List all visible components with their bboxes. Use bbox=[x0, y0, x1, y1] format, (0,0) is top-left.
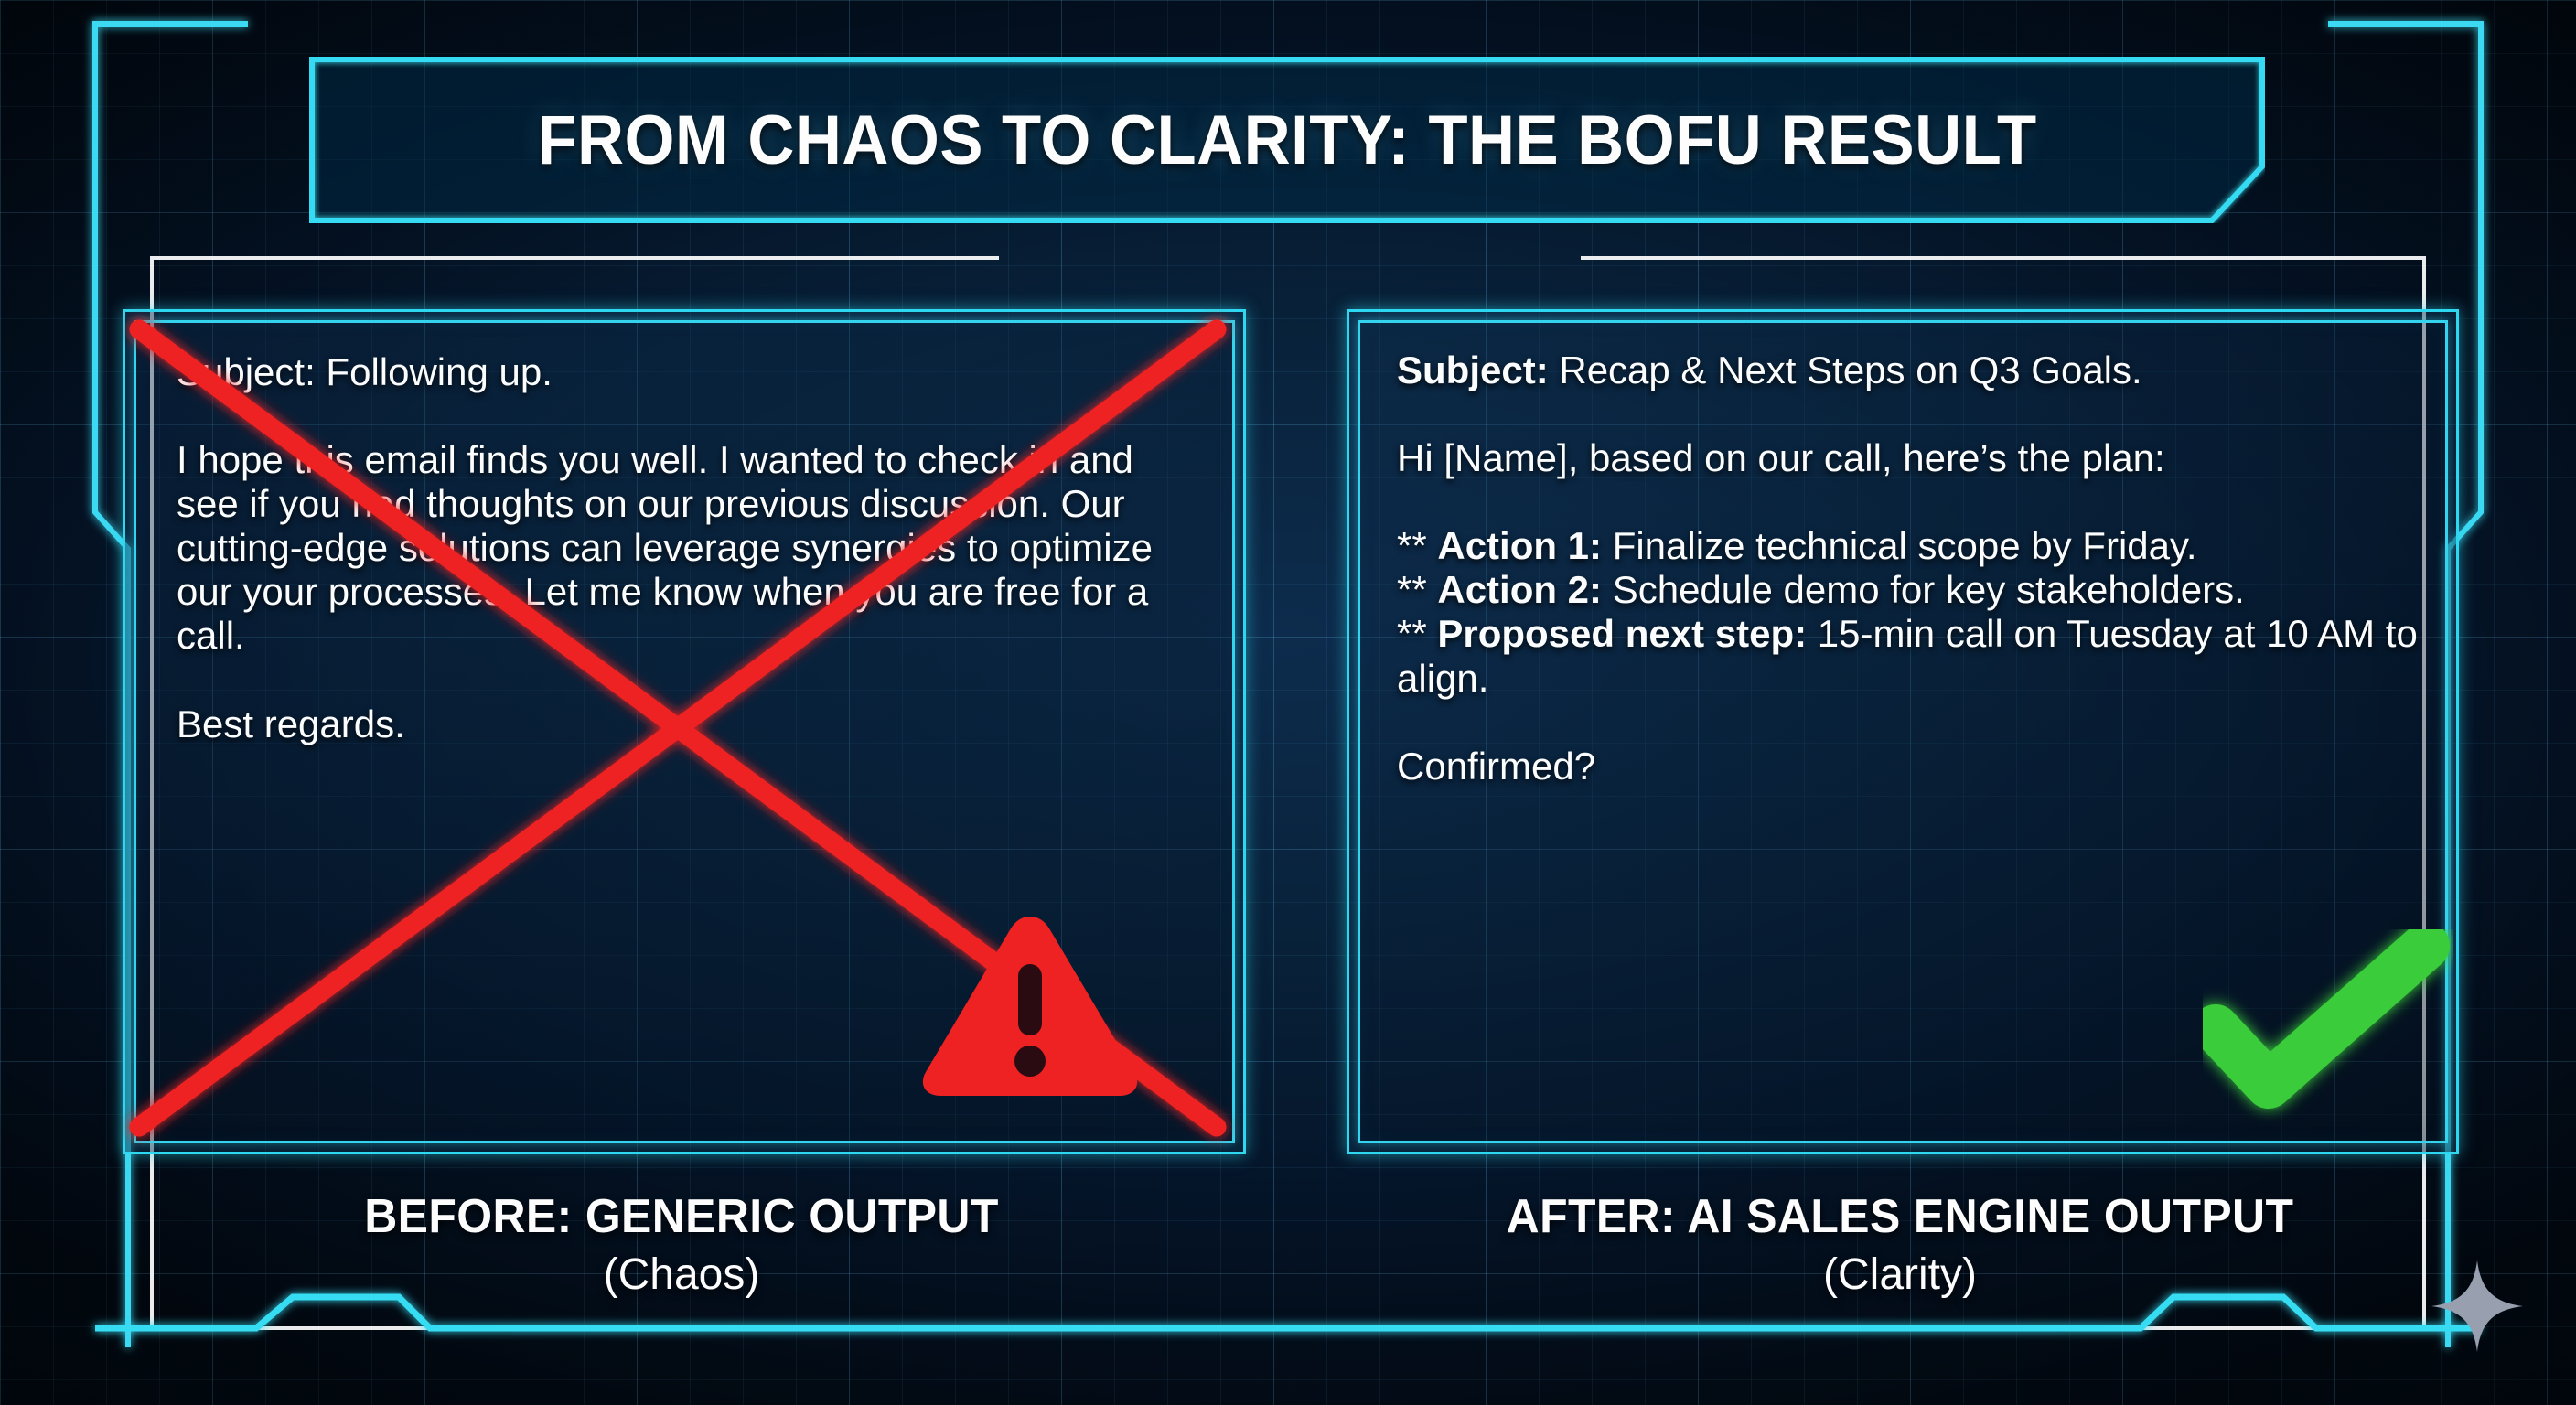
before-caption-main: BEFORE: GENERIC OUTPUT bbox=[145, 1189, 1218, 1244]
after-caption-sub: (Clarity) bbox=[1347, 1249, 2453, 1300]
page-title-panel: FROM CHAOS TO CLARITY: THE BOFU RESULT bbox=[309, 57, 2265, 223]
after-email-text: Subject: Recap & Next Steps on Q3 Goals.… bbox=[1397, 349, 2420, 788]
green-checkmark-icon bbox=[2203, 929, 2453, 1127]
page-title: FROM CHAOS TO CLARITY: THE BOFU RESULT bbox=[378, 57, 2196, 223]
before-caption-sub: (Chaos) bbox=[123, 1249, 1240, 1300]
warning-triangle-icon bbox=[918, 907, 1142, 1101]
after-caption-main: AFTER: AI SALES ENGINE OUTPUT bbox=[1368, 1189, 2431, 1244]
before-caption: BEFORE: GENERIC OUTPUT (Chaos) bbox=[123, 1189, 1240, 1300]
after-caption: AFTER: AI SALES ENGINE OUTPUT (Clarity) bbox=[1347, 1189, 2453, 1300]
four-point-sparkle-icon bbox=[2428, 1257, 2527, 1356]
before-email-text: Subject: Following up. I hope this email… bbox=[177, 350, 1201, 746]
